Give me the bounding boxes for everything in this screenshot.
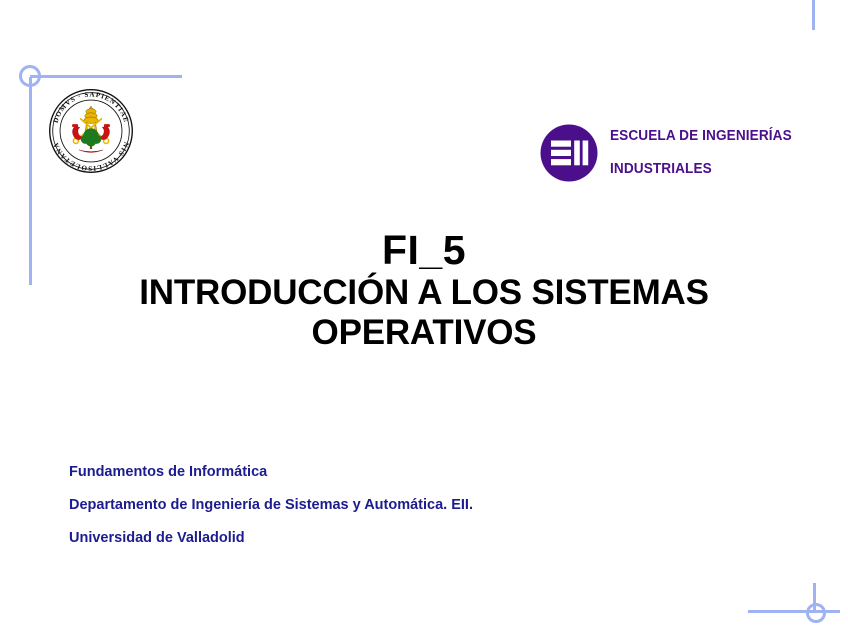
corner-circle-bottom-right bbox=[806, 603, 826, 623]
slide-subtitle: Fundamentos de Informática Departamento … bbox=[69, 456, 769, 555]
escuela-de-ingenierias-industriales-logo: ESCUELA DE INGENIERÍAS INDUSTRIALES bbox=[540, 112, 803, 193]
slide-title-code: FI_5 bbox=[0, 228, 848, 273]
slide-title-main: INTRODUCCIÓN A LOS SISTEMAS OPERATIVOS bbox=[0, 273, 848, 353]
eii-monogram-icon bbox=[540, 124, 598, 182]
subtitle-department: Departamento de Ingeniería de Sistemas y… bbox=[69, 489, 769, 522]
subtitle-university: Universidad de Valladolid bbox=[69, 522, 769, 555]
subtitle-course: Fundamentos de Informática bbox=[69, 456, 769, 489]
corner-tick-top-right bbox=[812, 0, 815, 30]
eii-logo-text: ESCUELA DE INGENIERÍAS INDUSTRIALES bbox=[610, 112, 792, 193]
eii-logo-text-line1: ESCUELA DE INGENIERÍAS bbox=[610, 128, 792, 144]
corner-rule-bottom-horizontal bbox=[748, 610, 840, 613]
universidad-de-valladolid-seal-icon: DOMVS · SAPIENTIAE NIS VALLISOLETANA bbox=[48, 88, 134, 174]
presentation-title-slide: DOMVS · SAPIENTIAE NIS VALLISOLETANA bbox=[0, 0, 848, 636]
corner-rule-top-horizontal bbox=[30, 75, 182, 78]
corner-circle-top-left bbox=[19, 65, 41, 87]
slide-title: FI_5 INTRODUCCIÓN A LOS SISTEMAS OPERATI… bbox=[0, 228, 848, 353]
eii-logo-text-line2: INDUSTRIALES bbox=[610, 161, 792, 177]
